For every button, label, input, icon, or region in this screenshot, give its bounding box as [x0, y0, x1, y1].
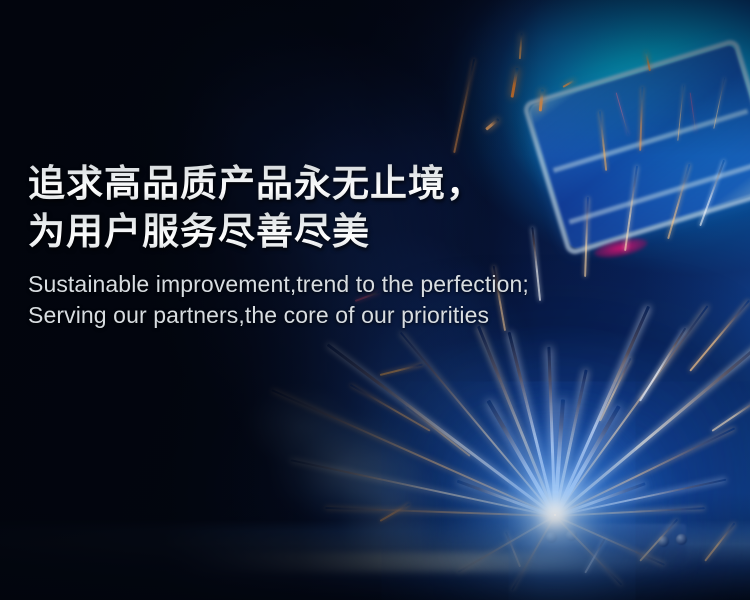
subhead-block: Sustainable improvement,trend to the per… — [28, 269, 698, 331]
spark-streak — [555, 479, 727, 518]
spark-streak — [599, 358, 631, 422]
spark-streak — [554, 306, 650, 517]
spark-streak — [327, 344, 556, 518]
spark-streak — [554, 305, 709, 517]
spark-streak — [554, 482, 645, 518]
spark-streak — [555, 507, 705, 517]
spark-streak — [486, 400, 556, 518]
spark-streak — [553, 399, 566, 517]
bench-bolt — [546, 532, 557, 543]
arc-flash-core — [554, 514, 556, 516]
spark-streak — [291, 459, 556, 517]
workbench-highlight — [180, 552, 700, 572]
bench-bolt — [566, 530, 577, 541]
spark-streak — [711, 394, 750, 431]
spark-streak — [547, 347, 556, 517]
spark-streak — [400, 332, 556, 517]
spark-streak — [555, 427, 736, 517]
subhead-en-line-1: Sustainable improvement,trend to the per… — [28, 269, 698, 300]
spark-streak — [689, 300, 750, 372]
bench-bolt — [676, 534, 687, 545]
spark-streak — [350, 384, 431, 432]
spark-streak — [380, 363, 423, 375]
promo-banner: 追求高品质产品永无止境， 为用户服务尽善尽美 Sustainable impro… — [0, 0, 750, 600]
spark-streak — [511, 68, 519, 98]
bench-bolt — [658, 536, 669, 547]
spark-streak — [457, 480, 556, 519]
spark-streak — [453, 59, 475, 153]
spark-streak — [271, 389, 555, 517]
spark-streak — [519, 33, 523, 59]
spark-streak — [380, 503, 410, 521]
spark-streak — [553, 405, 620, 518]
spark-streak — [508, 332, 557, 517]
spark-streak — [325, 507, 555, 517]
spark-streak — [406, 406, 470, 457]
banner-copy: 追求高品质产品永无止境， 为用户服务尽善尽美 Sustainable impro… — [28, 160, 698, 331]
subhead-en-line-2: Serving our partners,the core of our pri… — [28, 300, 698, 331]
spark-streak — [477, 326, 556, 517]
spark-streak — [554, 329, 750, 517]
spark-streak — [639, 328, 686, 402]
headline-cn-line-2: 为用户服务尽善尽美 — [28, 208, 698, 256]
spark-streak — [485, 118, 499, 130]
spark-streak — [554, 369, 588, 516]
headline-cn-line-1: 追求高品质产品永无止境， — [28, 160, 698, 208]
